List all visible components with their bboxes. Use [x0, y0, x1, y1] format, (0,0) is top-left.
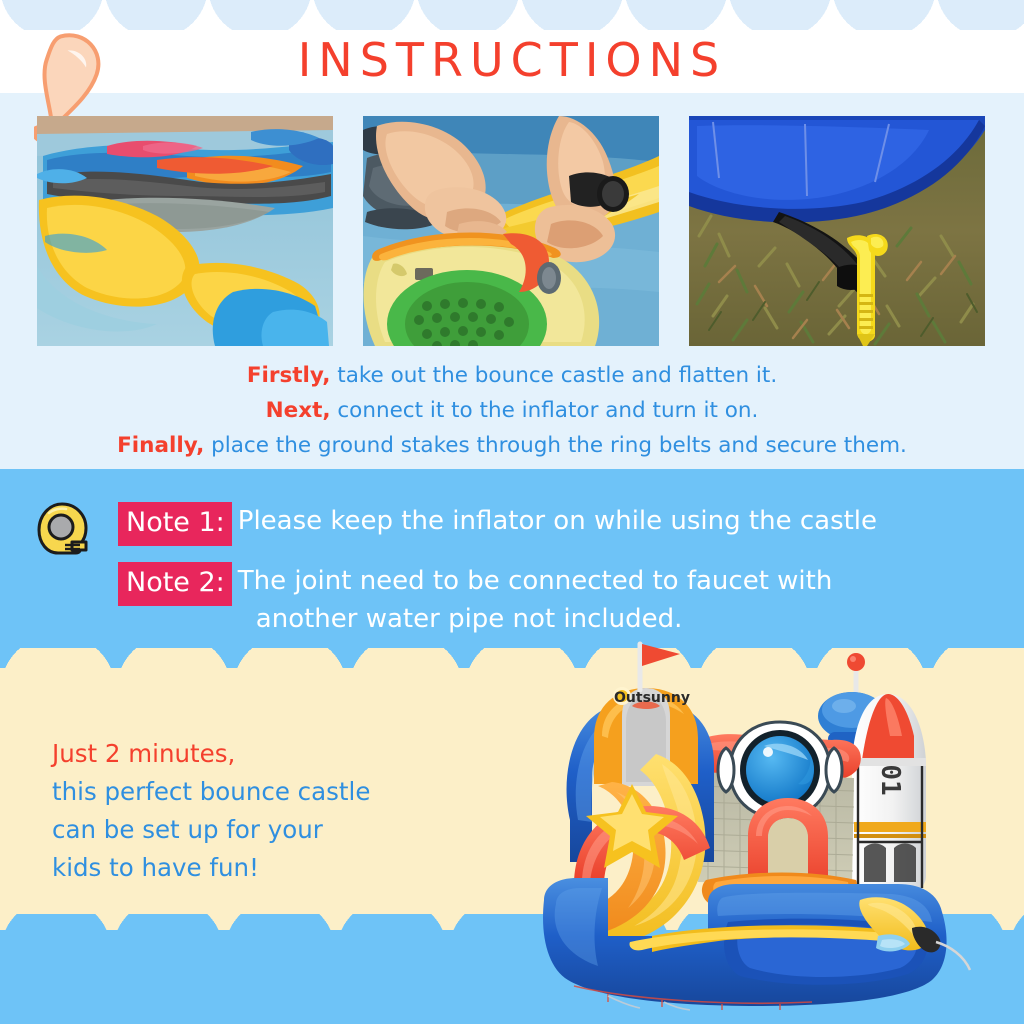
- step-text-3: place the ground stakes through the ring…: [204, 433, 907, 458]
- step-key-1: Firstly,: [247, 363, 331, 388]
- note-text-2: The joint need to be connected to faucet…: [232, 562, 833, 638]
- note-badge-1: Note 1:: [118, 502, 232, 546]
- step-text-2: connect it to the inflator and turn it o…: [331, 398, 759, 423]
- step-text-1: take out the bounce castle and flatten i…: [330, 363, 777, 388]
- blurb-line-4: kids to have fun!: [52, 849, 482, 887]
- photo-ground-stake: [689, 116, 985, 346]
- note-text-1: Please keep the inflator on while using …: [232, 502, 877, 540]
- note-text-2-line2: another water pipe not included.: [238, 600, 833, 638]
- page-title: INSTRUCTIONS: [0, 33, 1024, 87]
- step-line-1: Firstly, take out the bounce castle and …: [0, 358, 1024, 393]
- tape-measure-icon: [36, 500, 94, 558]
- blurb-line-3: can be set up for your: [52, 811, 482, 849]
- note-item-2: Note 2: The joint need to be connected t…: [118, 562, 998, 638]
- step-line-3: Finally, place the ground stakes through…: [0, 428, 1024, 463]
- note-badge-2: Note 2:: [118, 562, 232, 606]
- promo-blurb: Just 2 minutes, this perfect bounce cast…: [52, 735, 482, 887]
- instructions-page: INSTRUCTIONS: [0, 0, 1024, 1024]
- step-key-2: Next,: [266, 398, 331, 423]
- step-key-3: Finally,: [117, 433, 204, 458]
- note-item-1: Note 1: Please keep the inflator on whil…: [118, 502, 998, 546]
- svg-text:Outsunny: Outsunny: [614, 690, 690, 706]
- brand-label: Outsunny: [613, 687, 690, 709]
- product-image-bounce-castle: 01: [512, 636, 1012, 1011]
- steps-list: Firstly, take out the bounce castle and …: [0, 358, 1024, 463]
- scallop-edge-blue: [0, 469, 1024, 505]
- notes-list: Note 1: Please keep the inflator on whil…: [118, 502, 998, 654]
- note-text-2-line1: The joint need to be connected to faucet…: [238, 566, 833, 596]
- rocket-number-label: 01: [875, 764, 905, 795]
- blurb-line-2: this perfect bounce castle: [52, 773, 482, 811]
- step-line-2: Next, connect it to the inflator and tur…: [0, 393, 1024, 428]
- photo-flattened-castle: [37, 116, 333, 346]
- blurb-headline: Just 2 minutes,: [52, 735, 482, 773]
- photo-connect-inflator: [363, 116, 659, 346]
